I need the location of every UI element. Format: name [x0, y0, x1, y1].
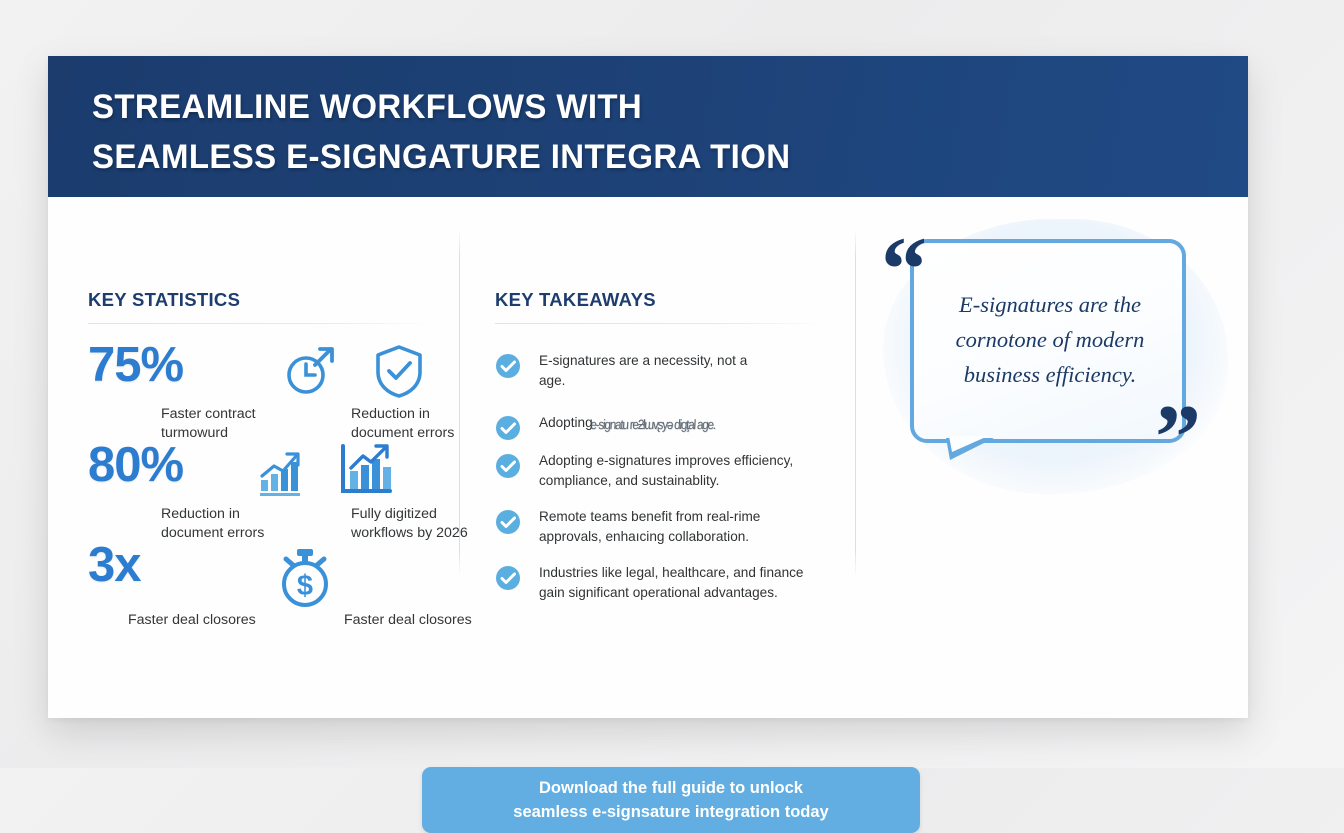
check-circle-icon [495, 578, 521, 595]
stat-label-3: Reduction in document errors [161, 505, 264, 543]
takeaway-text-2-garbled: e-signatu reƻłɯvʂуǝ diɡţal age. [590, 415, 716, 435]
quote-section: “ E-signatures are the cornotone of mode… [863, 209, 1248, 509]
download-guide-button[interactable]: Download the full guide to unlock seamle… [422, 767, 920, 833]
statistics-heading-rule [88, 323, 430, 324]
header-band: STREAMLINE WORKFLOWS WITH SEAMLESS E-SIG… [48, 56, 1248, 197]
content-area: KEY STATISTICS 75% Faster contract turmo… [48, 197, 1248, 718]
stat-label-6: Faster deal closores [344, 611, 472, 630]
takeaways-heading-rule [495, 323, 825, 324]
takeaways-heading: KEY TAKEAWAYS [495, 289, 656, 311]
page-title: STREAMLINE WORKFLOWS WITH SEAMLESS E-SIG… [92, 82, 790, 182]
takeaway-item-3: Adopting e-signatures improves efficienc… [495, 453, 521, 484]
takeaway-text-1: E-signatures are a necessity, not a age. [539, 351, 839, 390]
svg-text:$: $ [297, 570, 313, 602]
stat-label-5: Faster deal closores [128, 611, 256, 630]
stat-value-5: 3x [88, 537, 141, 593]
stat-value-3: 80% [88, 437, 183, 493]
takeaway-text-4: Remote teams benefit from real-rime appr… [539, 507, 859, 546]
takeaway-item-5: Industries like legal, healthcare, and f… [495, 565, 521, 596]
check-circle-icon [495, 366, 521, 383]
growth-chart-icon [256, 449, 306, 502]
check-circle-icon [495, 466, 521, 483]
stat-label-2: Reduction in document errors [351, 405, 454, 443]
infographic-canvas: STREAMLINE WORKFLOWS WITH SEAMLESS E-SIG… [0, 0, 1344, 768]
quote-text: E-signatures are the cornotone of modern… [925, 287, 1175, 392]
infographic-card: STREAMLINE WORKFLOWS WITH SEAMLESS E-SIG… [48, 56, 1248, 718]
check-circle-icon [495, 428, 521, 445]
clock-arrow-icon [282, 343, 338, 404]
takeaway-text-5: Industries like legal, healthcare, and f… [539, 563, 869, 602]
quote-open-mark: “ [881, 223, 927, 315]
stat-label-4: Fully digitized workflows by 2026 [351, 505, 468, 543]
takeaway-text-3: Adopting e-signatures improves efficienc… [539, 451, 859, 490]
check-circle-icon [495, 522, 521, 539]
stopwatch-dollar-icon: $ [276, 547, 334, 614]
takeaway-item-1: E-signatures are a necessity, not a age. [495, 353, 521, 384]
takeaway-item-4: Remote teams benefit from real-rime appr… [495, 509, 521, 540]
statistics-heading: KEY STATISTICS [88, 289, 240, 311]
shield-check-icon [373, 343, 425, 404]
stat-value-1: 75% [88, 337, 183, 393]
quote-close-mark: ” [1155, 391, 1201, 483]
bar-chart-arrow-icon [338, 443, 394, 502]
